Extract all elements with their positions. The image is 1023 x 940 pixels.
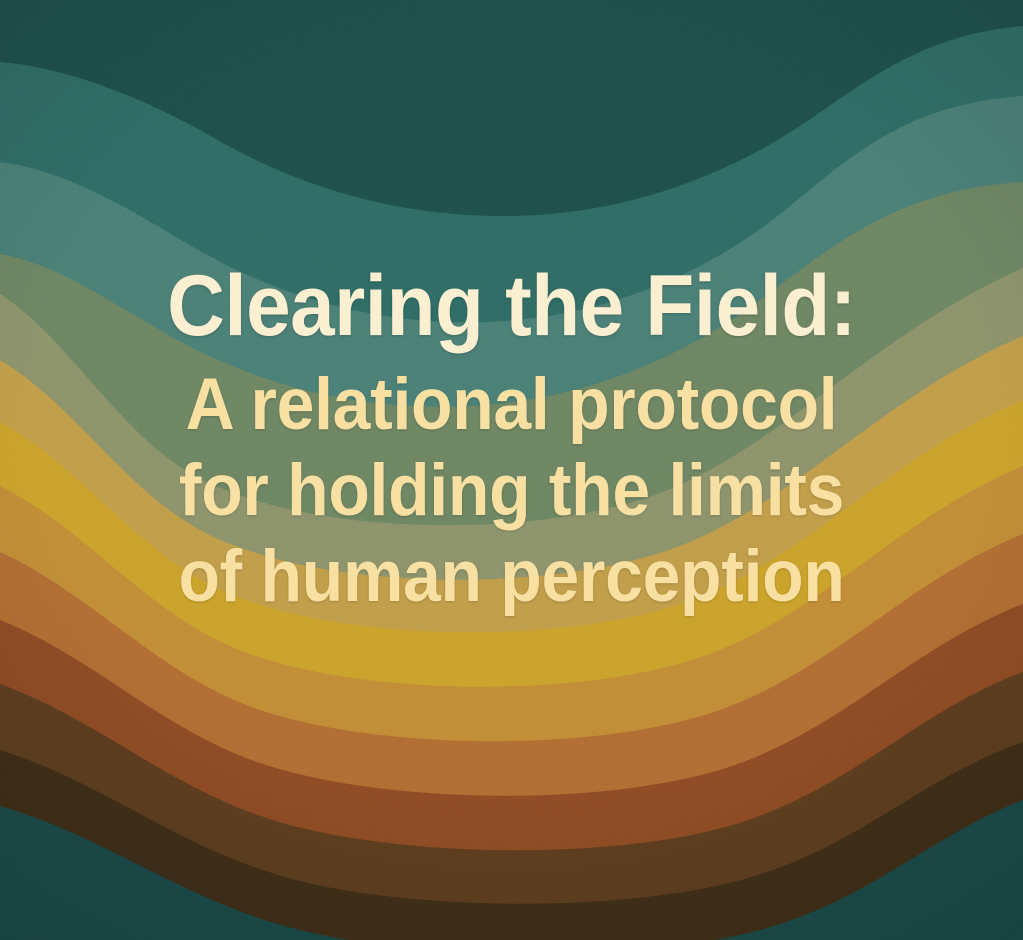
- wave-background: [0, 0, 1023, 940]
- poster-canvas: Clearing the Field: A relational protoco…: [0, 0, 1023, 940]
- paper-grain-texture: [0, 0, 1023, 940]
